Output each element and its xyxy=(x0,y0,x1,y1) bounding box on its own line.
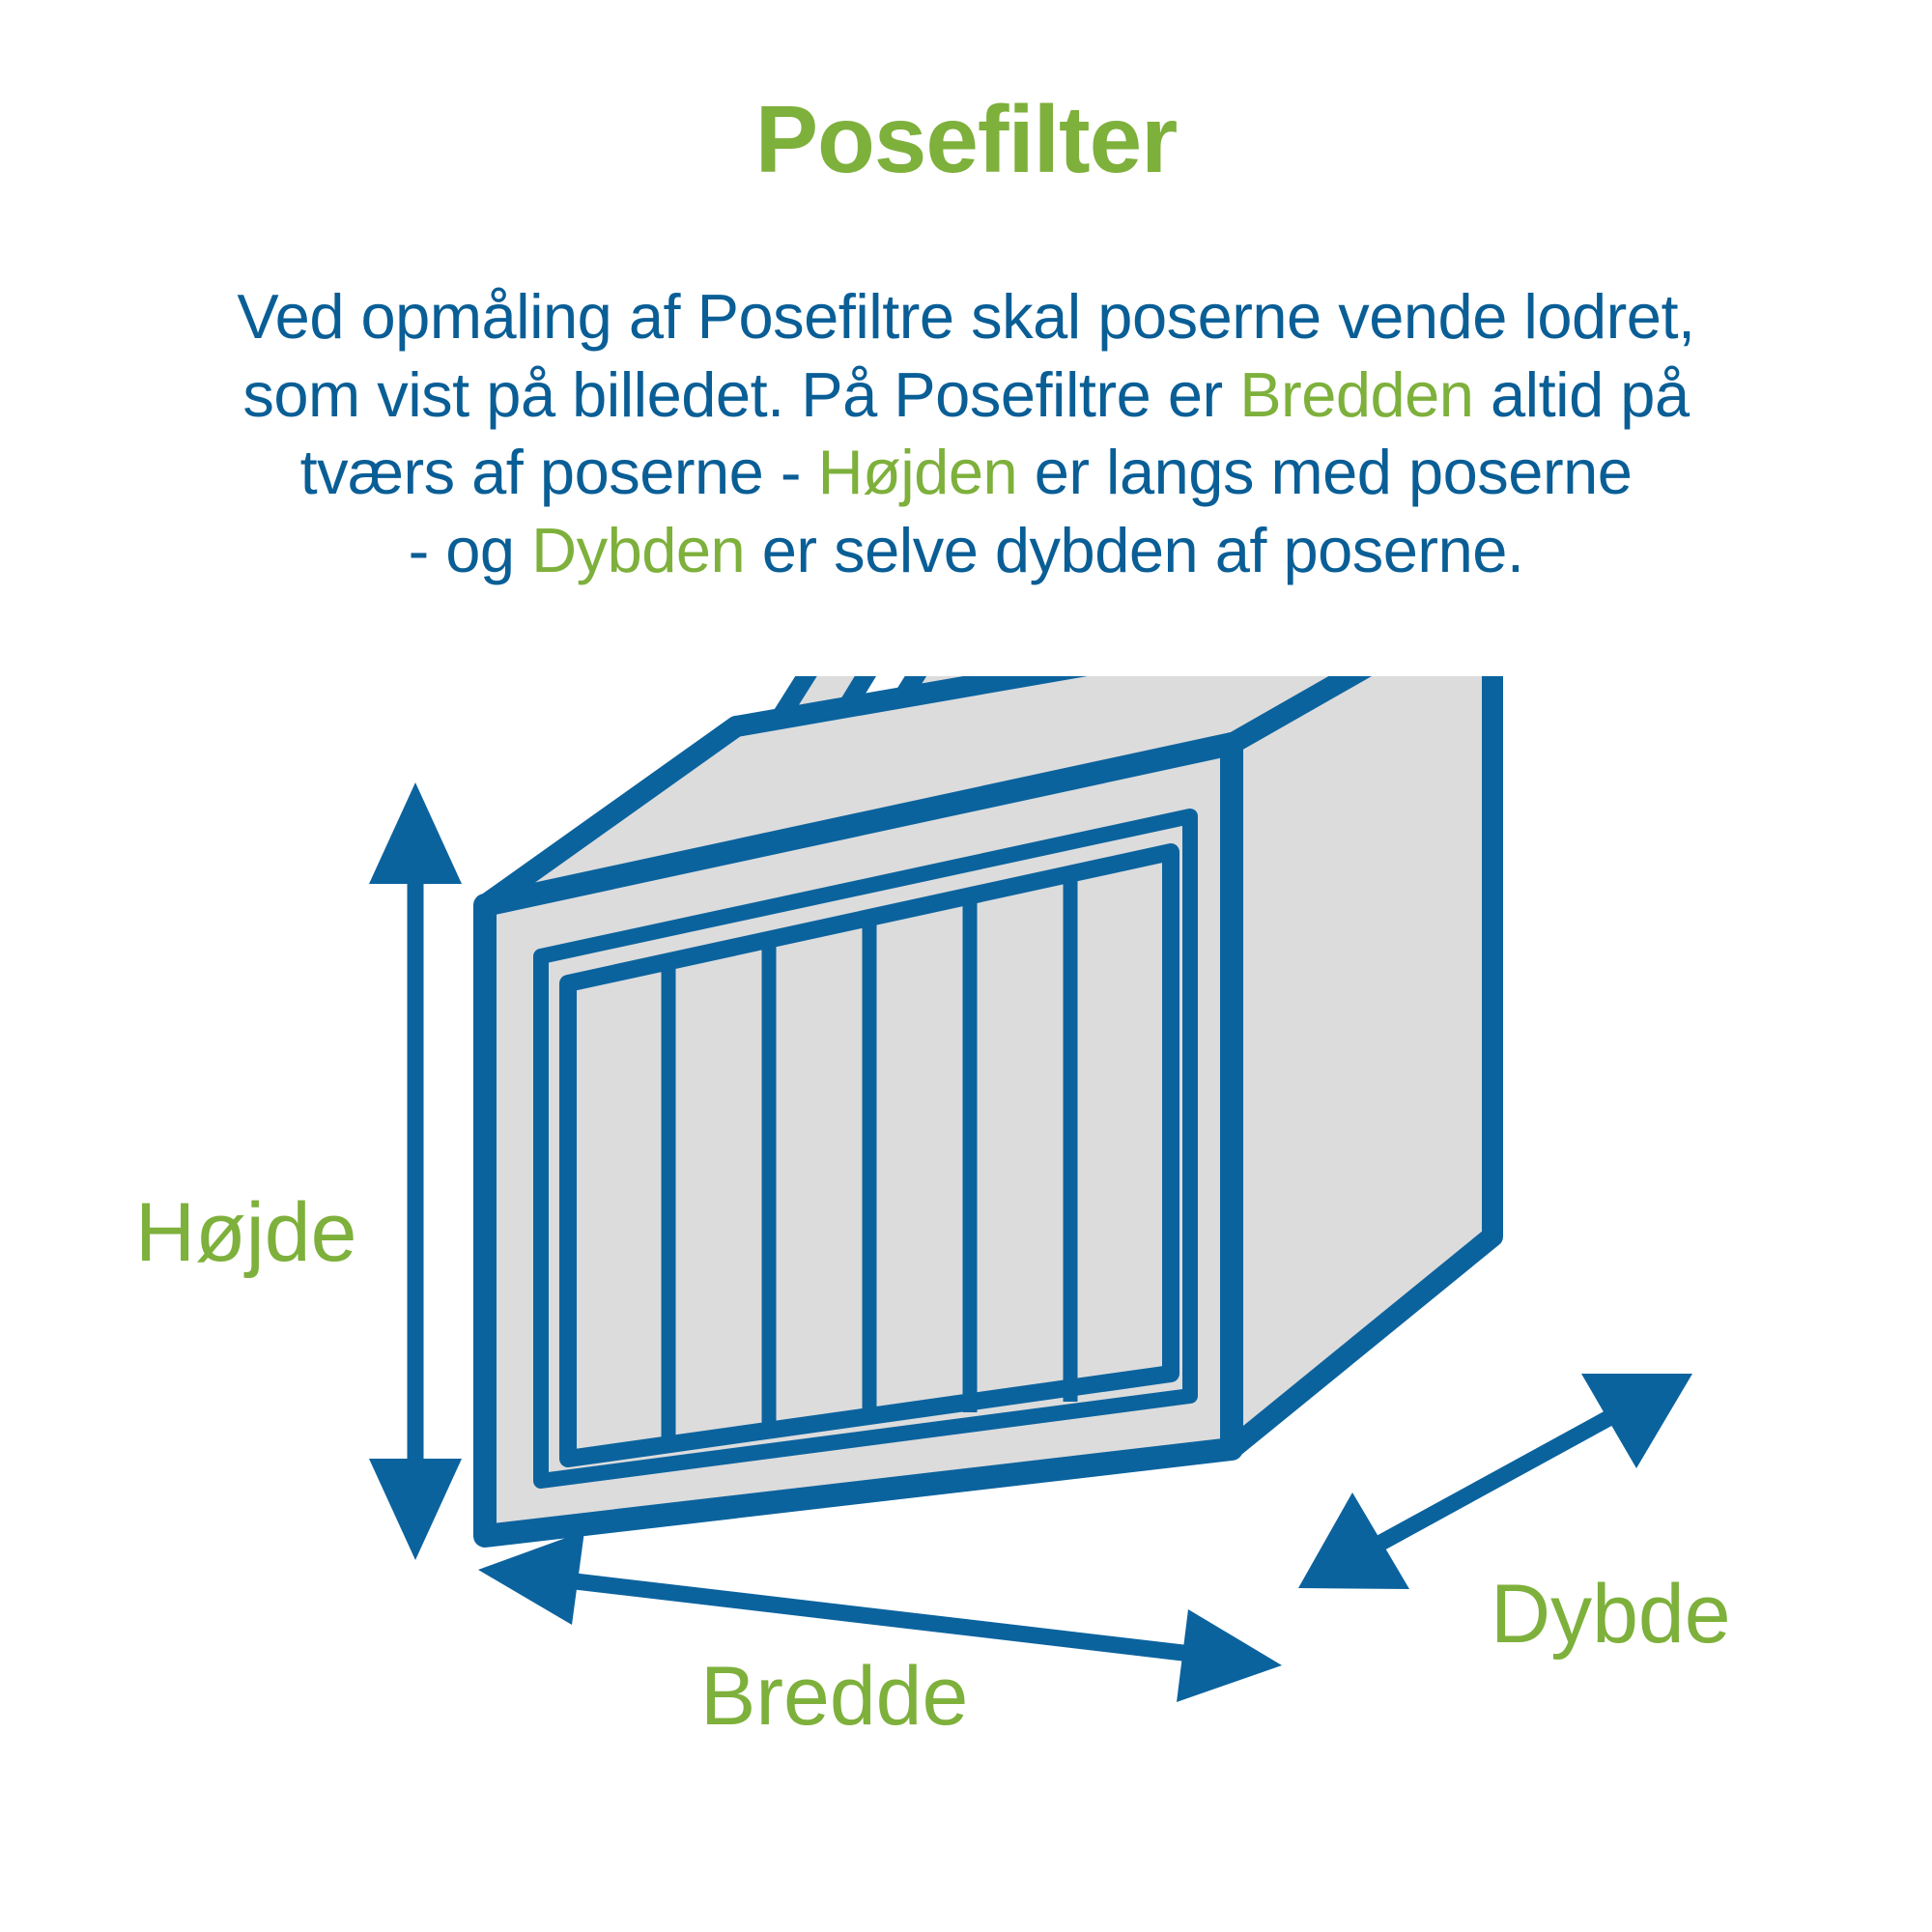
intro-line-2-pre: som vist på billedet. På Posefiltre er xyxy=(242,359,1239,430)
depth-dimension-label: Dybde xyxy=(1491,1568,1731,1661)
width-arrow-shaft xyxy=(551,1578,1207,1656)
intro-line-4-post: er selve dybden af poserne. xyxy=(745,515,1523,585)
poster-canvas: Posefilter Ved opmåling af Posefiltre sk… xyxy=(0,0,1932,1932)
height-arrow-head-down xyxy=(369,1459,462,1560)
intro-line-3-pre: tværs af poserne - xyxy=(300,437,818,507)
width-dimension-arrow: Bredde xyxy=(478,1531,1282,1743)
bag-filter-diagram: Højde Bredde Dybde xyxy=(0,676,1932,1932)
height-dimension-label: Højde xyxy=(135,1186,356,1279)
intro-highlight-dybden: Dybden xyxy=(531,515,745,585)
frame-right-side-face xyxy=(1232,676,1492,1449)
depth-arrow-shaft xyxy=(1367,1410,1623,1550)
height-dimension-arrow: Højde xyxy=(135,782,462,1560)
height-arrow-head-up xyxy=(369,782,462,884)
intro-line-3-post: er langs med poserne xyxy=(1017,437,1632,507)
intro-line-4-pre: - og xyxy=(409,515,532,585)
width-arrow-head-right xyxy=(1177,1609,1282,1702)
intro-line-2-post: altid på xyxy=(1473,359,1689,430)
page-title: Posefilter xyxy=(0,92,1932,186)
intro-highlight-bredden: Bredden xyxy=(1239,359,1473,430)
intro-highlight-hojden: Højden xyxy=(818,437,1018,507)
width-dimension-label: Bredde xyxy=(700,1650,968,1743)
intro-paragraph: Ved opmåling af Posefiltre skal poserne … xyxy=(87,278,1845,589)
depth-dimension-arrow: Dybde xyxy=(1298,1374,1731,1661)
intro-line-1: Ved opmåling af Posefiltre skal poserne … xyxy=(237,281,1694,352)
